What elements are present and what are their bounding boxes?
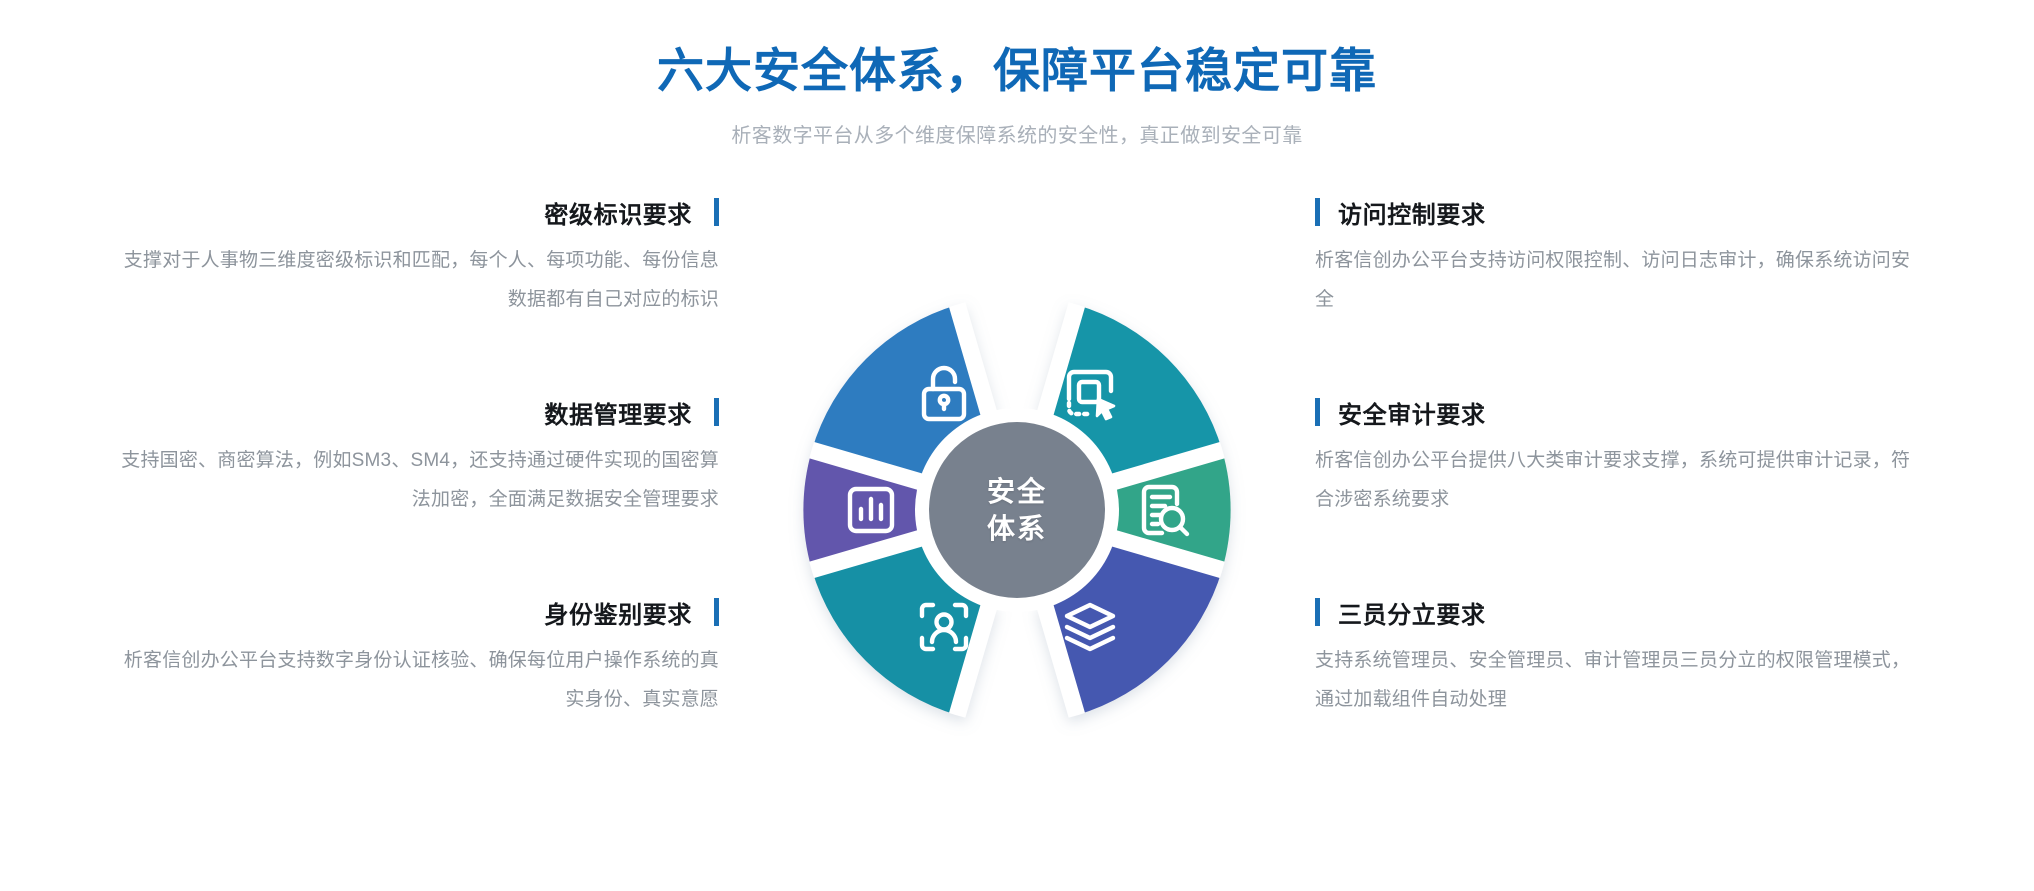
feature-description: 支持国密、商密算法，例如SM3、SM4，还支持通过硬件实现的国密算法加密，全面满… xyxy=(119,442,719,520)
right-feature-column: 访问控制要求 析客信创办公平台支持访问权限控制、访问日志审计，确保系统访问安全 … xyxy=(1297,196,1977,796)
accent-bar-icon xyxy=(1315,598,1320,626)
feature-title: 安全审计要求 xyxy=(1338,395,1486,430)
feature-title: 密级标识要求 xyxy=(544,195,692,230)
page-subtitle: 析客数字平台从多个维度保障系统的安全性，真正做到安全可靠 xyxy=(0,121,2034,151)
security-system-donut: 安全 体系 xyxy=(787,280,1247,740)
feature-item-data-management[interactable]: 数据管理要求 支持国密、商密算法，例如SM3、SM4，还支持通过硬件实现的国密算… xyxy=(117,396,719,596)
feature-item-identity-authentication[interactable]: 身份鉴别要求 析客信创办公平台支持数字身份认证核验、确保每位用户操作系统的真实身… xyxy=(117,596,719,796)
feature-description: 析客信创办公平台提供八大类审计要求支撑，系统可提供审计记录，符合涉密系统要求 xyxy=(1315,442,1917,520)
feature-title: 三员分立要求 xyxy=(1338,595,1486,630)
accent-bar-icon xyxy=(714,198,719,226)
feature-description: 析客信创办公平台支持数字身份认证核验、确保每位用户操作系统的真实身份、真实意愿 xyxy=(119,642,719,720)
feature-item-three-admin-separation[interactable]: 三员分立要求 支持系统管理员、安全管理员、审计管理员三员分立的权限管理模式，通过… xyxy=(1315,596,1917,796)
page-header: 六大安全体系，保障平台稳定可靠 析客数字平台从多个维度保障系统的安全性，真正做到… xyxy=(0,0,2034,151)
feature-item-security-audit[interactable]: 安全审计要求 析客信创办公平台提供八大类审计要求支撑，系统可提供审计记录，符合涉… xyxy=(1315,396,1917,596)
feature-header: 身份鉴别要求 xyxy=(117,596,719,628)
feature-header: 访问控制要求 xyxy=(1315,196,1917,228)
accent-bar-icon xyxy=(1315,398,1320,426)
feature-header: 密级标识要求 xyxy=(117,196,719,228)
donut-center-circle xyxy=(929,422,1105,598)
feature-title: 数据管理要求 xyxy=(544,395,692,430)
feature-description: 支持系统管理员、安全管理员、审计管理员三员分立的权限管理模式，通过加载组件自动处… xyxy=(1315,642,1917,720)
feature-description: 支撑对于人事物三维度密级标识和匹配，每个人、每项功能、每份信息数据都有自己对应的… xyxy=(119,242,719,320)
feature-title: 访问控制要求 xyxy=(1338,195,1486,230)
feature-item-secrecy-marking[interactable]: 密级标识要求 支撑对于人事物三维度密级标识和匹配，每个人、每项功能、每份信息数据… xyxy=(117,196,719,396)
feature-header: 安全审计要求 xyxy=(1315,396,1917,428)
accent-bar-icon xyxy=(714,598,719,626)
center-diagram-column: 安全 体系 xyxy=(737,196,1297,740)
page-title: 六大安全体系，保障平台稳定可靠 xyxy=(0,42,2034,101)
feature-item-access-control[interactable]: 访问控制要求 析客信创办公平台支持访问权限控制、访问日志审计，确保系统访问安全 xyxy=(1315,196,1917,396)
feature-header: 三员分立要求 xyxy=(1315,596,1917,628)
features-layout: 密级标识要求 支撑对于人事物三维度密级标识和匹配，每个人、每项功能、每份信息数据… xyxy=(0,196,2034,836)
feature-title: 身份鉴别要求 xyxy=(544,595,692,630)
accent-bar-icon xyxy=(714,398,719,426)
feature-description: 析客信创办公平台支持访问权限控制、访问日志审计，确保系统访问安全 xyxy=(1315,242,1917,320)
feature-header: 数据管理要求 xyxy=(117,396,719,428)
left-feature-column: 密级标识要求 支撑对于人事物三维度密级标识和匹配，每个人、每项功能、每份信息数据… xyxy=(57,196,737,796)
accent-bar-icon xyxy=(1315,198,1320,226)
